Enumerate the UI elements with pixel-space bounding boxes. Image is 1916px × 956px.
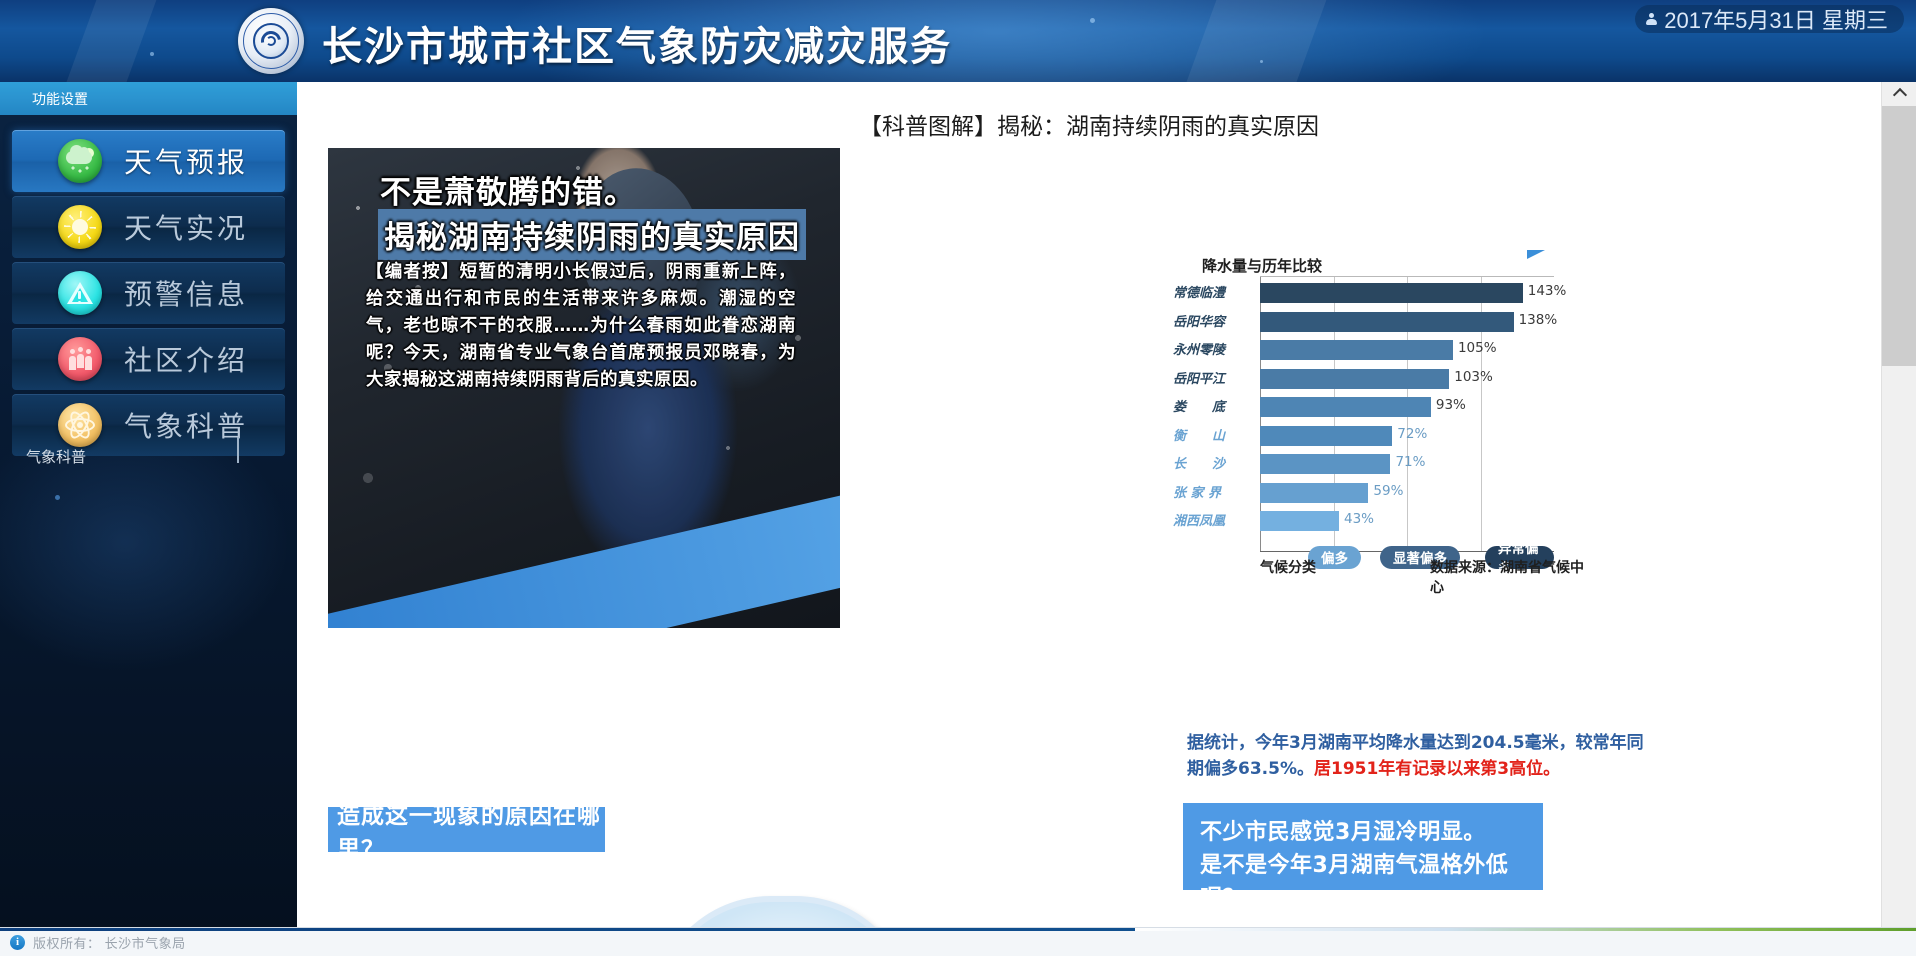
text-caret	[237, 437, 239, 463]
section-banner-right-line2: 是不是今年3月湖南气温格外低呢？	[1200, 849, 1543, 915]
chart-bar-row: 永州零陵105%	[1260, 340, 1554, 360]
chart-value-label: 103%	[1454, 369, 1493, 385]
chart-bar	[1260, 340, 1453, 360]
people-group-icon	[58, 337, 102, 381]
chart-value-label: 143%	[1528, 283, 1567, 299]
hero-image: 不是萧敬腾的错。 揭秘湖南持续阴雨的真实原因 【编者按】短暂的清明小长假过后，阴…	[328, 148, 840, 628]
chart-bar-row: 娄 底93%	[1260, 397, 1554, 417]
sidebar-item-label: 预警信息	[124, 273, 248, 313]
scrollbar-thumb[interactable]	[1882, 106, 1916, 366]
chart-bar-row: 张 家 界59%	[1260, 483, 1554, 503]
footer: i 版权所有： 长沙市气象局	[0, 927, 1916, 956]
chart-value-label: 59%	[1373, 483, 1403, 499]
header-streak	[56, 0, 163, 82]
site-title: 长沙市城市社区气象防灾减灾服务	[322, 14, 952, 72]
main-scrollbar[interactable]	[1881, 82, 1916, 927]
statistics-paragraph: 据统计，今年3月湖南平均降水量达到204.5毫米，较常年同期偏多63.5%。居1…	[1187, 730, 1657, 782]
chart-bar	[1260, 426, 1392, 446]
chart-value-label: 93%	[1436, 397, 1466, 413]
footer-accent-bar-right	[1135, 928, 1916, 931]
hero-headline-1: 不是萧敬腾的错。	[380, 167, 636, 212]
scroll-up-button[interactable]	[1882, 82, 1916, 104]
sidebar-current-selection: 气象科普	[26, 446, 86, 467]
chart-bar	[1260, 369, 1449, 389]
warning-triangle-icon	[58, 271, 102, 315]
section-banner-right-line1: 不少市民感觉3月湿冷明显。	[1200, 816, 1543, 849]
section-banner-right: 不少市民感觉3月湿冷明显。 是不是今年3月湖南气温格外低呢？	[1183, 803, 1543, 890]
sidebar-item-weather-live[interactable]: 天气实况	[12, 196, 285, 258]
chart-bar	[1260, 511, 1339, 531]
precipitation-comparison-chart: 降水量与历年比较 常德临澧143%岳阳华容138%永州零陵105%岳阳平江103…	[1177, 252, 1587, 602]
chart-x-axis-label: 气候分类	[1260, 557, 1316, 577]
chart-bar	[1260, 312, 1514, 332]
date-display: 2017年5月31日 星期三	[1635, 5, 1904, 33]
chart-bar	[1260, 454, 1390, 474]
atom-icon	[58, 403, 102, 447]
chart-corner-flag	[1527, 250, 1545, 259]
current-date-text: 2017年5月31日 星期三	[1664, 3, 1888, 35]
site-logo	[238, 8, 304, 74]
sidebar-item-weather-forecast[interactable]: 天气预报	[12, 130, 285, 192]
copyright-text: 版权所有： 长沙市气象局	[33, 933, 186, 952]
chart-value-label: 71%	[1395, 454, 1425, 470]
header-dot	[150, 52, 154, 56]
chart-category-label: 长 沙	[1173, 453, 1253, 472]
info-icon: i	[10, 935, 25, 950]
chart-bar-row: 岳阳华容138%	[1260, 312, 1554, 332]
sidebar-item-label: 社区介绍	[124, 339, 248, 379]
sidebar-item-community-intro[interactable]: 社区介绍	[12, 328, 285, 390]
chart-category-label: 湘西凤凰	[1173, 510, 1253, 529]
chart-value-label: 105%	[1458, 340, 1497, 356]
chart-bar-row: 岳阳平江103%	[1260, 369, 1554, 389]
sidebar-item-warning-info[interactable]: 预警信息	[12, 262, 285, 324]
section-banner-left-text: 造成这一现象的原因在哪里？	[337, 796, 605, 864]
section-banner-left: 造成这一现象的原因在哪里？	[328, 807, 605, 852]
chart-category-label: 衡 山	[1173, 425, 1253, 444]
chart-category-label: 娄 底	[1173, 396, 1253, 415]
chart-category-label: 永州零陵	[1173, 339, 1253, 358]
user-icon	[1645, 13, 1658, 26]
hero-headline-2: 揭秘湖南持续阴雨的真实原因	[378, 209, 806, 260]
sidebar-item-label: 气象科普	[124, 405, 248, 445]
chart-bar	[1260, 483, 1368, 503]
chart-bar-row: 常德临澧143%	[1260, 283, 1554, 303]
chart-category-label: 张 家 界	[1173, 482, 1253, 501]
footer-accent-bar	[0, 928, 1135, 931]
chart-value-label: 138%	[1519, 312, 1558, 328]
chart-bar-row: 衡 山72%	[1260, 426, 1554, 446]
landscape-illustration	[652, 882, 922, 927]
chart-value-label: 72%	[1397, 426, 1427, 442]
sun-icon	[58, 205, 102, 249]
chart-data-source: 数据来源：湖南省气候中心	[1430, 557, 1587, 597]
header-dot	[1260, 60, 1263, 63]
statistics-text-highlight: 居1951年有记录以来第3高位。	[1314, 759, 1560, 779]
chart-bar-row: 湘西凤凰43%	[1260, 511, 1554, 531]
chart-category-label: 岳阳华容	[1173, 311, 1253, 330]
main-content: 【科普图解】揭秘：湖南持续阴雨的真实原因 不是萧敬腾的错。 揭秘湖南持续阴雨的真…	[297, 82, 1881, 927]
app-header: 长沙市城市社区气象防灾减灾服务 2017年5月31日 星期三	[0, 0, 1916, 82]
chart-plot-area: 常德临澧143%岳阳华容138%永州零陵105%岳阳平江103%娄 底93%衡 …	[1260, 276, 1554, 552]
sidebar-decor-dot	[55, 495, 60, 500]
chart-value-label: 43%	[1344, 511, 1374, 527]
chart-bar-row: 长 沙71%	[1260, 454, 1554, 474]
page-title: 【科普图解】揭秘：湖南持续阴雨的真实原因	[297, 107, 1881, 141]
chart-category-label: 常德临澧	[1173, 282, 1253, 301]
chart-bar	[1260, 283, 1523, 303]
chart-title: 降水量与历年比较	[1202, 255, 1322, 276]
chevron-up-icon	[1892, 88, 1906, 102]
chart-bar	[1260, 397, 1431, 417]
hero-body-text: 【编者按】短暂的清明小长假过后，阴雨重新上阵，给交通出行和市民的生活带来许多麻烦…	[366, 259, 796, 394]
sidebar-panel-title: 功能设置	[0, 82, 297, 115]
sidebar: 功能设置 天气预报 天气实况 预警信息 社区介绍 气象科	[0, 82, 297, 927]
chart-category-label: 岳阳平江	[1173, 368, 1253, 387]
sidebar-item-label: 天气实况	[124, 207, 248, 247]
header-streak	[1173, 0, 1338, 82]
sidebar-item-label: 天气预报	[124, 141, 248, 181]
cloud-sun-rain-icon	[58, 139, 102, 183]
header-dot	[1090, 18, 1095, 23]
